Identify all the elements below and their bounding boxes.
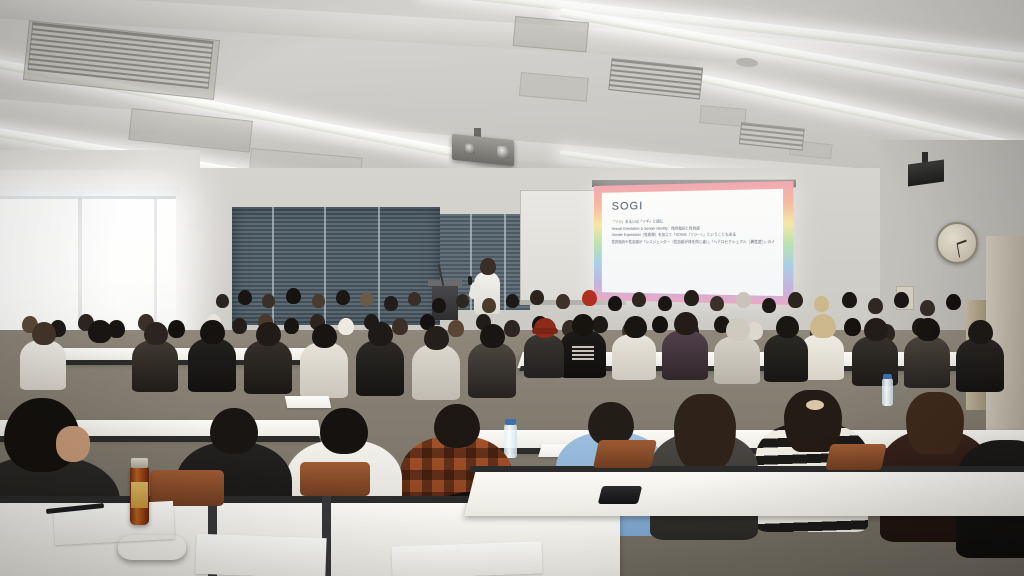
chair-back [825,444,887,470]
slide-bullet-list: 「ソジ」あるいは「ソギ」と読む Sexual Orientation & Gen… [612,217,774,246]
foreground-desk-right-edge [469,466,1024,472]
projector-lens-secondary [465,143,475,154]
attendee-head [572,314,594,336]
projector-lens [497,145,509,158]
smartphone [598,486,642,504]
handout-paper [195,534,326,576]
tea-bottle [130,466,149,525]
attendee-head [320,408,368,454]
hair-tie [806,400,824,410]
cap-brim [532,328,558,334]
lecture-hall-photo: SOGI 「ソジ」あるいは「ソギ」と読む Sexual Orientation … [0,0,1024,576]
ceiling-vent [739,122,805,151]
bottle-cap [131,458,148,468]
attendee-head [434,404,480,448]
handout-paper [391,541,542,576]
slide-bullet: 性的指向や性自認が「シスジェンダー（性自認が体を同じ者）」「ヘテロセクシュアル（… [612,239,774,246]
ceiling-panel [519,72,589,102]
ceiling-panel [513,16,589,52]
attendee-hair [674,394,736,468]
bottle-label [131,482,148,508]
clock-minute-hand [956,243,960,257]
slide-title: SOGI [612,200,644,213]
wall-clock [936,222,978,264]
attendee-head [810,314,836,338]
bread-roll [118,535,186,560]
attendee-head [210,408,258,454]
presenter-head [480,258,496,275]
chair-back [593,440,657,468]
attendee-hair [906,392,964,454]
ceiling-vent [128,108,253,153]
tshirt-graphic [572,344,594,360]
foreground-desk-right [464,470,1024,516]
ceiling-vent [608,58,703,99]
clock-hour-hand [957,240,967,245]
attendee-face [56,426,90,462]
chair-back [300,462,370,496]
ceiling-panel [699,105,746,127]
